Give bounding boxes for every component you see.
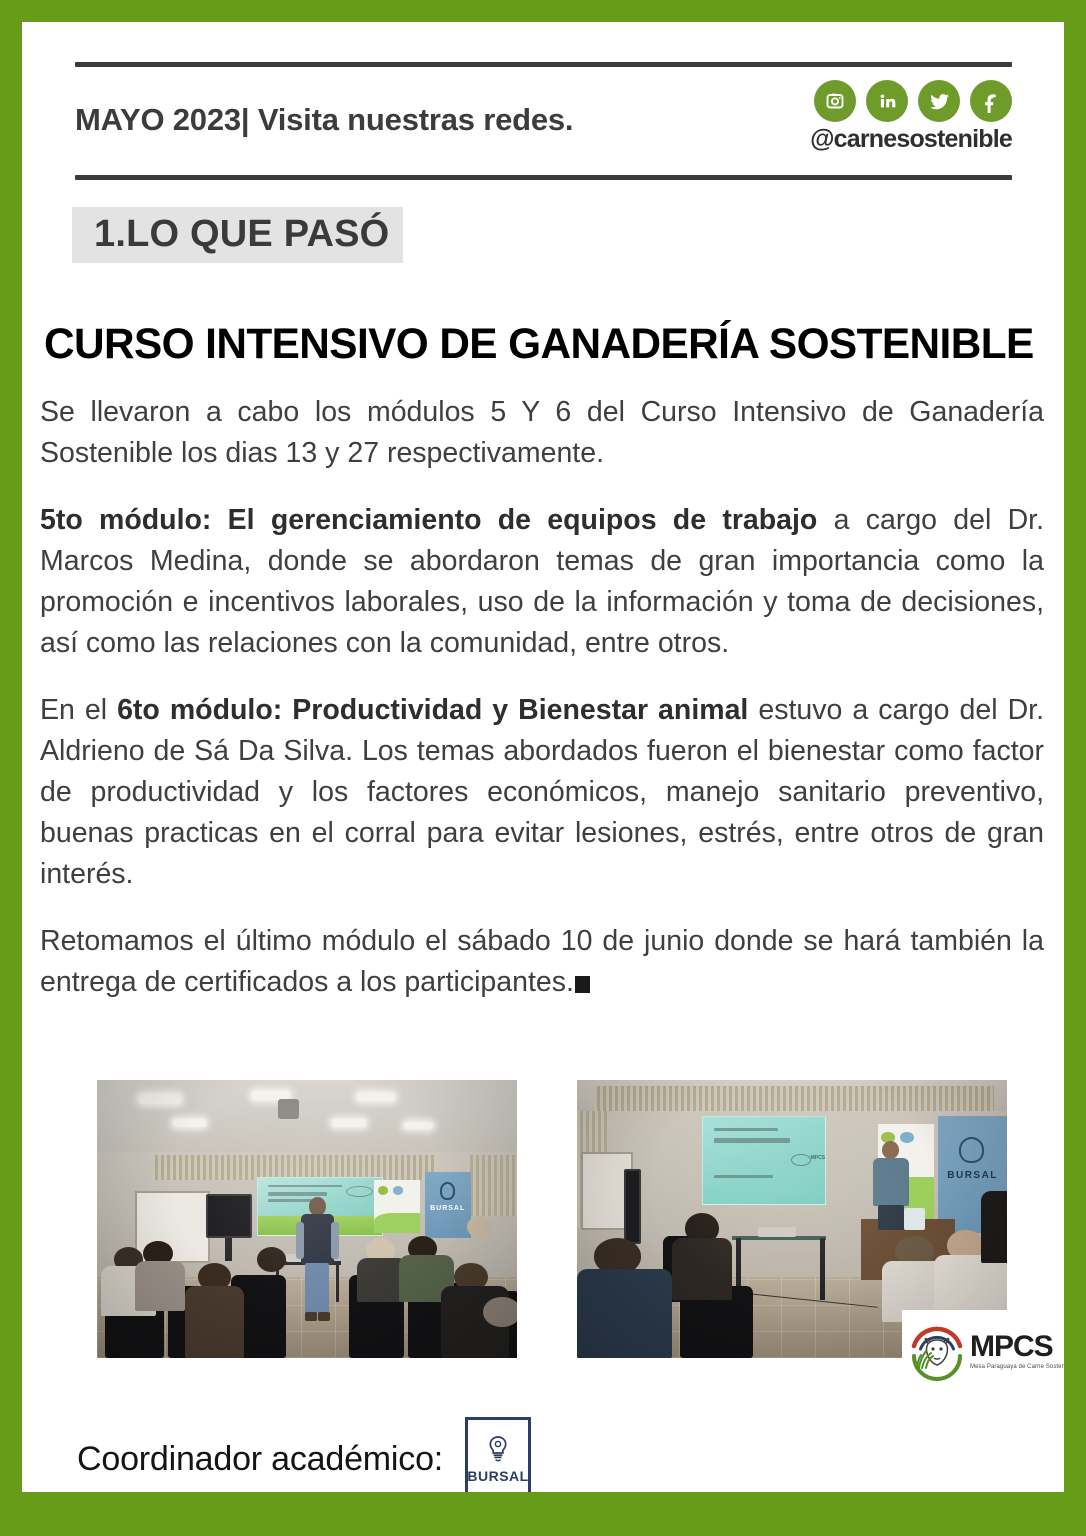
window-blinds (152, 1155, 438, 1180)
paragraph-intro: Se llevaron a cabo los módulos 5 Y 6 del… (40, 392, 1044, 474)
audience-person (257, 1247, 286, 1272)
page-header: MAYO 2023| Visita nuestras redes. (75, 62, 1012, 180)
text-run: Retomamos el último módulo el sábado 10 … (40, 925, 1044, 998)
table-leg (820, 1238, 825, 1299)
ceiling-light (139, 1094, 181, 1104)
mpcs-tagline: Mesa Paraguaya de Carne Sostenible (970, 1364, 1064, 1370)
mpcs-text: MPCS Mesa Paraguaya de Carne Sostenible (970, 1332, 1064, 1370)
audience-person (185, 1286, 244, 1358)
header-rule-bottom (75, 175, 1012, 180)
mpcs-wordmark: MPCS (970, 1332, 1064, 1362)
bursal-banner-text: BURSAL (425, 1205, 471, 1212)
window-blinds (467, 1155, 517, 1216)
bursal-banner-text: BURSAL (938, 1170, 1007, 1181)
header-title: MAYO 2023| Visita nuestras redes. (75, 102, 573, 138)
ceiling (97, 1080, 517, 1152)
bursal-logo: BURSAL (465, 1417, 531, 1492)
mpcs-mark-icon (906, 1320, 968, 1382)
twitter-icon[interactable] (918, 80, 960, 122)
section-tag: 1.LO QUE PASÓ (72, 207, 403, 263)
audience-person (577, 1269, 672, 1358)
lightbulb-icon (485, 1434, 511, 1464)
projector (758, 1227, 797, 1237)
social-icons (794, 80, 1012, 122)
footer: Coordinador académico: BURSAL (77, 1417, 531, 1492)
speaker-person (294, 1197, 340, 1322)
audience-person (483, 1297, 517, 1328)
bursal-wordmark: BURSAL (467, 1468, 528, 1484)
social-handle: @carnesostenible (794, 125, 1012, 154)
end-mark (575, 976, 590, 993)
header-rule-top (75, 62, 1012, 67)
mpcs-logo: MPCS Mesa Paraguaya de Carne Sostenible (902, 1310, 1062, 1392)
ceiling-light (357, 1093, 395, 1102)
ceiling-projector (278, 1099, 299, 1118)
article-body: Se llevaron a cabo los módulos 5 Y 6 del… (40, 392, 1044, 1003)
instagram-icon[interactable] (814, 80, 856, 122)
paragraph-modulo-5: 5to módulo: El gerenciamiento de equipos… (40, 500, 1044, 664)
projection-screen: MPCS (702, 1116, 827, 1205)
linkedin-icon[interactable] (866, 80, 908, 122)
facebook-icon[interactable] (970, 80, 1012, 122)
coordinator-label: Coordinador académico: (77, 1440, 443, 1479)
audience-person (135, 1261, 185, 1311)
newsletter-page: MAYO 2023| Visita nuestras redes. (22, 22, 1064, 1492)
article-headline: CURSO INTENSIVO DE GANADERÍA SOSTENIBLE (44, 322, 1029, 367)
photo-left: BURSAL (97, 1080, 517, 1358)
text-run: Se llevaron a cabo los módulos 5 Y 6 del… (40, 396, 1044, 469)
ceiling-light (332, 1119, 366, 1127)
bursal-banner: BURSAL (425, 1172, 471, 1239)
audience-person (981, 1191, 1007, 1263)
tv-monitor (206, 1194, 252, 1238)
tv-stand (225, 1238, 232, 1260)
tv-monitor (624, 1169, 641, 1244)
paragraph-cierre: Retomamos el último módulo el sábado 10 … (40, 921, 1044, 1003)
ceiling-light (404, 1122, 433, 1130)
audience-person (672, 1238, 732, 1299)
sponsor-banner (374, 1180, 420, 1233)
ceiling-light (173, 1119, 207, 1127)
text-run-bold: 5to módulo: El gerenciamiento de equipos… (40, 504, 817, 536)
text-run: En el (40, 694, 117, 726)
speaker-person (869, 1141, 912, 1230)
paragraph-modulo-6: En el 6to módulo: Productividad y Bienes… (40, 690, 1044, 895)
social-block: @carnesostenible (794, 80, 1012, 154)
text-run-bold: 6to módulo: Productividad y Bienestar an… (117, 694, 748, 726)
window-blinds (594, 1086, 994, 1111)
